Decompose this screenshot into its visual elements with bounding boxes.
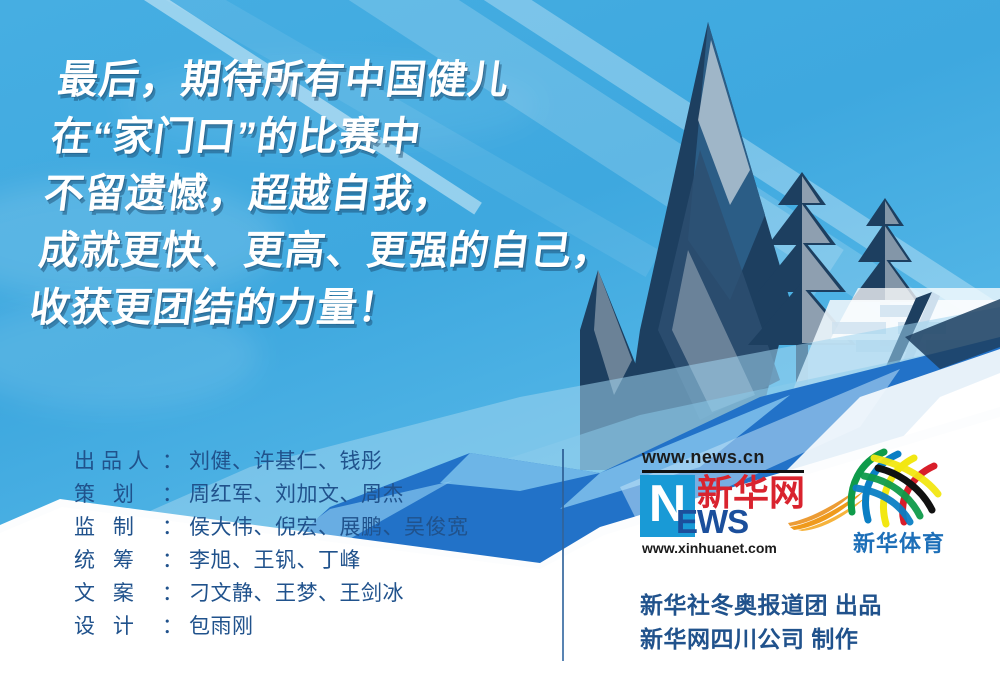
xinhuanet-wordmark: N 新华网 EWS: [640, 475, 812, 537]
xinhuanet-logo[interactable]: www.news.cn N 新华网 EWS www.xinhuanet.com: [640, 447, 815, 559]
headline-line: 不留遗憾，超越自我，: [41, 166, 688, 223]
logo-latin-name: EWS: [676, 505, 748, 538]
credit-label: 策 划: [74, 478, 162, 511]
credit-colon: ：: [162, 610, 183, 643]
credit-row: 监 制 ： 侯大伟、倪宏、展鹏、吴俊宽: [74, 511, 544, 544]
credit-row: 出品人 ： 刘健、许基仁、钱彤: [74, 445, 544, 478]
credit-colon: ：: [162, 544, 183, 577]
credit-row: 文 案 ： 刁文静、王梦、王剑冰: [74, 577, 544, 610]
xinhua-sports-logo[interactable]: 新华体育: [838, 446, 960, 558]
footer-credits: 新华社冬奥报道团 出品 新华网四川公司 制作: [640, 588, 882, 656]
credit-label: 文 案: [74, 577, 162, 610]
vertical-divider: [562, 449, 564, 661]
credit-label: 监 制: [74, 511, 162, 544]
credit-colon: ：: [162, 445, 183, 478]
xinhuanet-url-top: www.news.cn: [642, 447, 765, 468]
credit-label: 统 筹: [74, 544, 162, 577]
headline: 最后，期待所有中国健儿 在“家门口”的比赛中 不留遗憾，超越自我， 成就更快、更…: [27, 52, 702, 337]
credit-names: 包雨刚: [189, 610, 254, 643]
headline-line: 最后，期待所有中国健儿: [54, 52, 701, 109]
credit-names: 周红军、刘加文、周杰: [189, 478, 404, 511]
sports-logo-name: 新华体育: [838, 526, 960, 558]
footer-line: 新华社冬奥报道团 出品: [640, 588, 882, 622]
headline-line: 成就更快、更高、更强的自己，: [34, 223, 681, 280]
credit-names: 刘健、许基仁、钱彤: [189, 445, 383, 478]
olympic-rings-swoosh-icon: [838, 446, 960, 528]
credit-colon: ：: [162, 478, 183, 511]
xinhuanet-url-bottom: www.xinhuanet.com: [642, 540, 777, 556]
credit-row: 策 划 ： 周红军、刘加文、周杰: [74, 478, 544, 511]
headline-line: 收获更团结的力量！: [27, 280, 674, 337]
credit-row: 统 筹 ： 李旭、王钒、丁峰: [74, 544, 544, 577]
credits-list: 出品人 ： 刘健、许基仁、钱彤 策 划 ： 周红军、刘加文、周杰 监 制 ： 侯…: [74, 445, 544, 643]
credit-colon: ：: [162, 511, 183, 544]
credit-names: 刁文静、王梦、王剑冰: [189, 577, 404, 610]
headline-line: 在“家门口”的比赛中: [47, 109, 694, 166]
credit-label: 出品人: [74, 445, 162, 478]
credit-names: 侯大伟、倪宏、展鹏、吴俊宽: [189, 511, 469, 544]
footer-line: 新华网四川公司 制作: [640, 622, 882, 656]
poster-canvas: 最后，期待所有中国健儿 在“家门口”的比赛中 不留遗憾，超越自我， 成就更快、更…: [0, 0, 1000, 697]
credit-row: 设 计 ： 包雨刚: [74, 610, 544, 643]
credit-label: 设 计: [74, 610, 162, 643]
credit-names: 李旭、王钒、丁峰: [189, 544, 361, 577]
credit-colon: ：: [162, 577, 183, 610]
